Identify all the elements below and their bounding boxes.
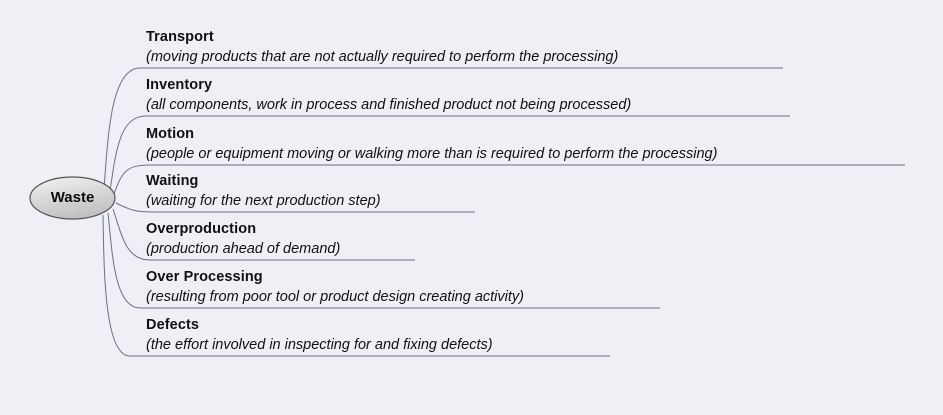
branch-inventory: Inventory (all components, work in proce… — [146, 76, 631, 115]
branch-description-overproduction: (production ahead of demand) — [146, 239, 340, 259]
branch-overproduction: Overproduction (production ahead of dema… — [146, 220, 340, 259]
branch-description-over-processing: (resulting from poor tool or product des… — [146, 287, 524, 307]
branch-description-waiting: (waiting for the next production step) — [146, 191, 381, 211]
branch-description-inventory: (all components, work in process and fin… — [146, 95, 631, 115]
branch-transport: Transport (moving products that are not … — [146, 28, 618, 67]
branch-title-defects: Defects — [146, 316, 493, 335]
branch-over-processing: Over Processing (resulting from poor too… — [146, 268, 524, 307]
branch-title-transport: Transport — [146, 28, 618, 47]
branch-title-over-processing: Over Processing — [146, 268, 524, 287]
branch-title-inventory: Inventory — [146, 76, 631, 95]
branch-description-motion: (people or equipment moving or walking m… — [146, 144, 717, 164]
branch-description-defects: (the effort involved in inspecting for a… — [146, 335, 493, 355]
branch-title-waiting: Waiting — [146, 172, 381, 191]
branch-title-overproduction: Overproduction — [146, 220, 340, 239]
center-node-label: Waste — [30, 189, 115, 206]
branch-waiting: Waiting (waiting for the next production… — [146, 172, 381, 211]
branch-defects: Defects (the effort involved in inspecti… — [146, 316, 493, 355]
mind-map-diagram: Waste Transport (moving products that ar… — [0, 0, 943, 415]
branch-description-transport: (moving products that are not actually r… — [146, 47, 618, 67]
branch-title-motion: Motion — [146, 125, 717, 144]
branch-motion: Motion (people or equipment moving or wa… — [146, 125, 717, 164]
